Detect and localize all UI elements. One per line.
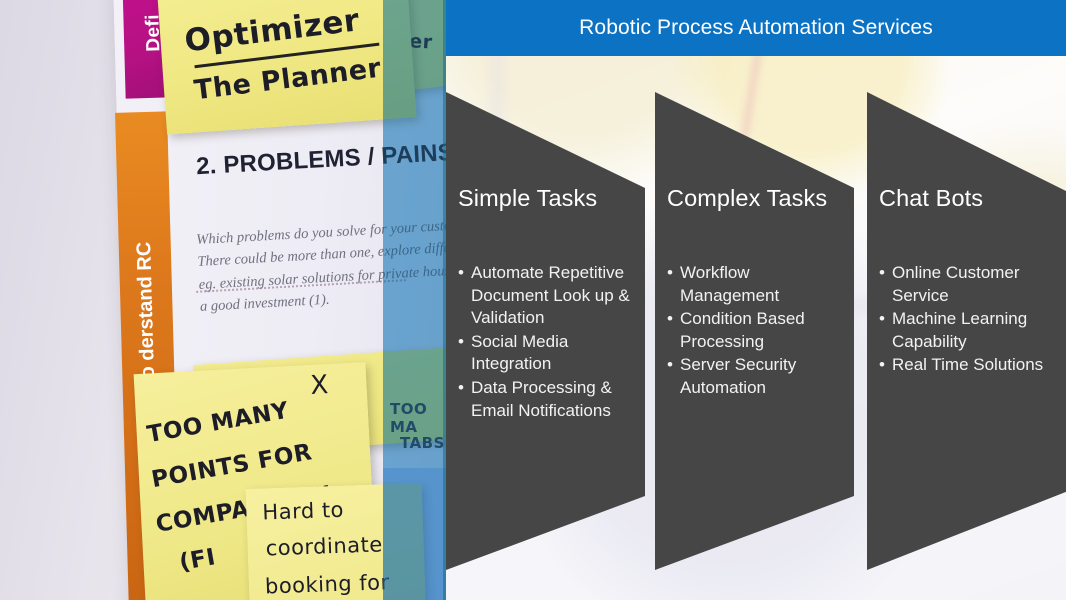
sticky-note-optimizer: Optimizer The Planner [153, 0, 416, 134]
slide-title: Robotic Process Automation Services [446, 0, 1066, 56]
slide: Defi PR, tap into derstand RC 2. PROBLEM… [0, 0, 1066, 600]
sticky-note-line: TOO MANY [145, 398, 291, 449]
chevron-list: Online Customer Service Machine Learning… [879, 262, 1057, 378]
sticky-note-line: coordinate [265, 532, 383, 560]
sticky-note-x-mark: X [310, 370, 330, 401]
chevron-title: Chat Bots [879, 186, 1059, 212]
sticky-note-line: (FI [177, 544, 217, 576]
photo-collage: Defi PR, tap into derstand RC 2. PROBLEM… [0, 0, 446, 600]
sticky-note-line: POINTS FOR [150, 439, 314, 493]
title-bar: Robotic Process Automation Services [446, 0, 1066, 56]
chevron-list: Automate Repetitive Document Look up & V… [458, 262, 636, 423]
list-item: Condition Based Processing [667, 308, 845, 353]
list-item: Online Customer Service [879, 262, 1057, 307]
chevron-title: Complex Tasks [667, 186, 847, 212]
list-item: Workflow Management [667, 262, 845, 307]
blue-tint-overlay-lower [383, 468, 446, 600]
list-item: Machine Learning Capability [879, 308, 1057, 353]
list-item: Social Media Integration [458, 331, 636, 376]
sticky-note-line: Hard to [262, 498, 344, 525]
sticky-note-line: booking for [265, 570, 390, 598]
list-item: Data Processing & Email Notifications [458, 377, 636, 422]
content-area: Robotic Process Automation Services Simp… [446, 0, 1066, 600]
chevron-list: Workflow Management Condition Based Proc… [667, 262, 845, 401]
list-item: Real Time Solutions [879, 354, 1057, 377]
list-item: Automate Repetitive Document Look up & V… [458, 262, 636, 330]
list-item: Server Security Automation [667, 354, 845, 399]
chevron-title: Simple Tasks [458, 186, 638, 212]
sticky-note-line: The Planner [192, 53, 383, 107]
